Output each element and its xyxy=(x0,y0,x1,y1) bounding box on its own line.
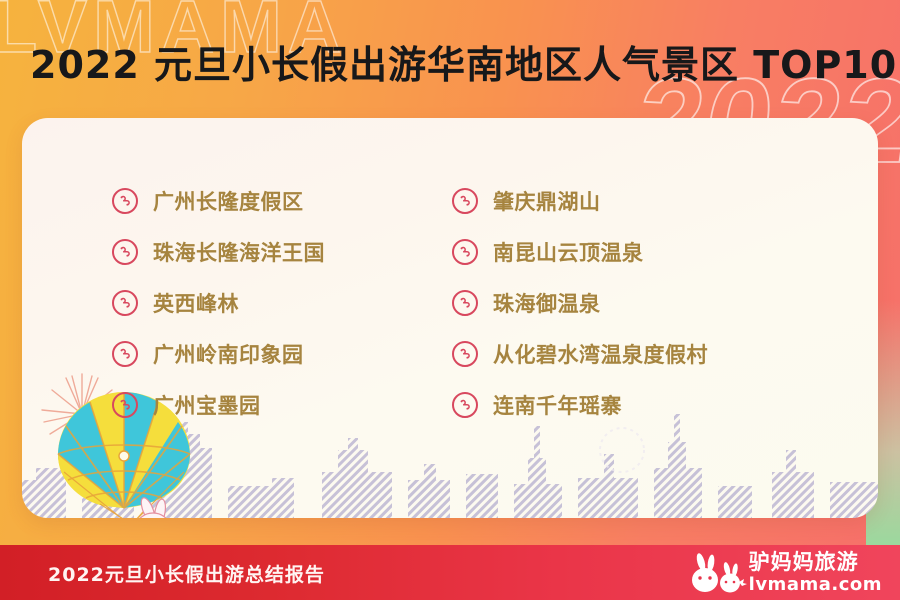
route-pin-icon xyxy=(112,392,138,418)
ranking-column-right: 肇庆鼎湖山 南昆山云顶温泉 xyxy=(452,176,852,431)
list-item-label: 珠海御温泉 xyxy=(493,288,601,318)
route-pin-icon xyxy=(452,290,478,316)
list-item-label: 广州长隆度假区 xyxy=(153,186,304,216)
footer-bar: 2022元旦小长假出游总结报告 xyxy=(0,545,900,600)
rabbit-pair-icon xyxy=(685,552,747,594)
page-title: 2022 元旦小长假出游华南地区人气景区 TOP10 xyxy=(30,34,897,89)
brand-logo[interactable]: 驴妈妈旅游 lvmama.com xyxy=(685,551,882,595)
route-pin-icon xyxy=(112,290,138,316)
list-item-label: 连南千年瑶寨 xyxy=(493,390,622,420)
ranking-list: 广州长隆度假区 珠海长隆海洋王国 xyxy=(22,118,878,518)
list-item-label: 珠海长隆海洋王国 xyxy=(153,237,325,267)
list-item-label: 从化碧水湾温泉度假村 xyxy=(493,339,708,369)
list-item-label: 肇庆鼎湖山 xyxy=(493,186,601,216)
route-pin-icon xyxy=(112,188,138,214)
ranking-card: 广州长隆度假区 珠海长隆海洋王国 xyxy=(22,118,878,518)
list-item-label: 广州岭南印象园 xyxy=(153,339,304,369)
list-item[interactable]: 连南千年瑶寨 xyxy=(452,380,852,430)
route-pin-icon xyxy=(112,341,138,367)
brand-logo-cn: 驴妈妈旅游 xyxy=(749,552,882,573)
list-item-label: 英西峰林 xyxy=(153,288,239,318)
route-pin-icon xyxy=(452,392,478,418)
route-pin-icon xyxy=(452,188,478,214)
list-item-label: 南昆山云顶温泉 xyxy=(493,237,644,267)
route-pin-icon xyxy=(452,341,478,367)
list-item[interactable]: 从化碧水湾温泉度假村 xyxy=(452,329,852,379)
list-item[interactable]: 南昆山云顶温泉 xyxy=(452,227,852,277)
route-pin-icon xyxy=(112,239,138,265)
list-item[interactable]: 珠海御温泉 xyxy=(452,278,852,328)
route-pin-icon xyxy=(452,239,478,265)
brand-logo-en: lvmama.com xyxy=(749,576,882,594)
footer-report-title: 2022元旦小长假出游总结报告 xyxy=(48,560,325,587)
poster-root: LVMAMA 2022 2022 元旦小长假出游华南地区人气景区 TOP10 xyxy=(0,0,900,600)
list-item-label: 广州宝墨园 xyxy=(153,390,261,420)
list-item[interactable]: 肇庆鼎湖山 xyxy=(452,176,852,226)
